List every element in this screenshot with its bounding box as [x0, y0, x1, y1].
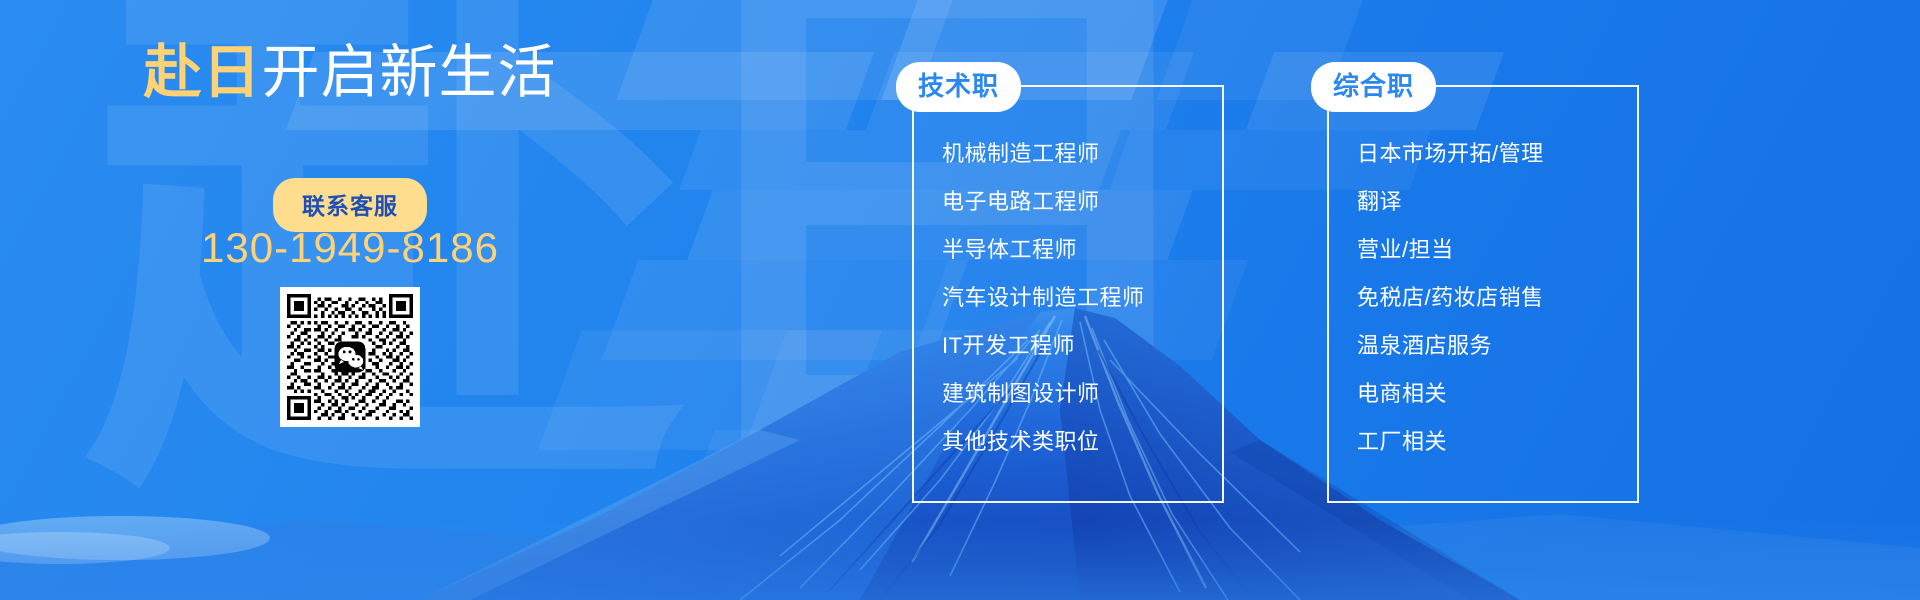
- list-item[interactable]: 营业/担当: [1357, 239, 1544, 261]
- headline-main: 开启新生活: [262, 40, 557, 105]
- list-item[interactable]: 温泉酒店服务: [1357, 335, 1544, 357]
- general-category-label: 综合职: [1311, 62, 1436, 112]
- headline: 赴日开启新生活: [0, 44, 700, 102]
- tech-category-label: 技术职: [896, 62, 1021, 112]
- list-item[interactable]: 工厂相关: [1357, 431, 1544, 453]
- left-content: 赴日开启新生活 联系客服 130-1949-8186: [0, 0, 700, 600]
- list-item[interactable]: 免税店/药妆店销售: [1357, 287, 1544, 309]
- phone-number[interactable]: 130-1949-8186: [0, 224, 700, 272]
- list-item[interactable]: 机械制造工程师: [942, 143, 1145, 165]
- list-item[interactable]: 电子电路工程师: [942, 191, 1145, 213]
- headline-accent: 赴日: [143, 40, 261, 105]
- tech-job-list: 机械制造工程师 电子电路工程师 半导体工程师 汽车设计制造工程师 IT开发工程师…: [942, 143, 1145, 479]
- general-job-list: 日本市场开拓/管理 翻译 营业/担当 免税店/药妆店销售 温泉酒店服务 电商相关…: [1357, 143, 1544, 479]
- promo-banner: 赴日: [0, 0, 1920, 600]
- list-item[interactable]: 汽车设计制造工程师: [942, 287, 1145, 309]
- qr-code-icon: [287, 294, 413, 420]
- wechat-qr-code[interactable]: [280, 287, 420, 427]
- list-item[interactable]: 建筑制图设计师: [942, 383, 1145, 405]
- list-item[interactable]: 翻译: [1357, 191, 1544, 213]
- list-item[interactable]: 日本市场开拓/管理: [1357, 143, 1544, 165]
- list-item[interactable]: 半导体工程师: [942, 239, 1145, 261]
- list-item[interactable]: 其他技术类职位: [942, 431, 1145, 453]
- list-item[interactable]: 电商相关: [1357, 383, 1544, 405]
- list-item[interactable]: IT开发工程师: [942, 335, 1145, 357]
